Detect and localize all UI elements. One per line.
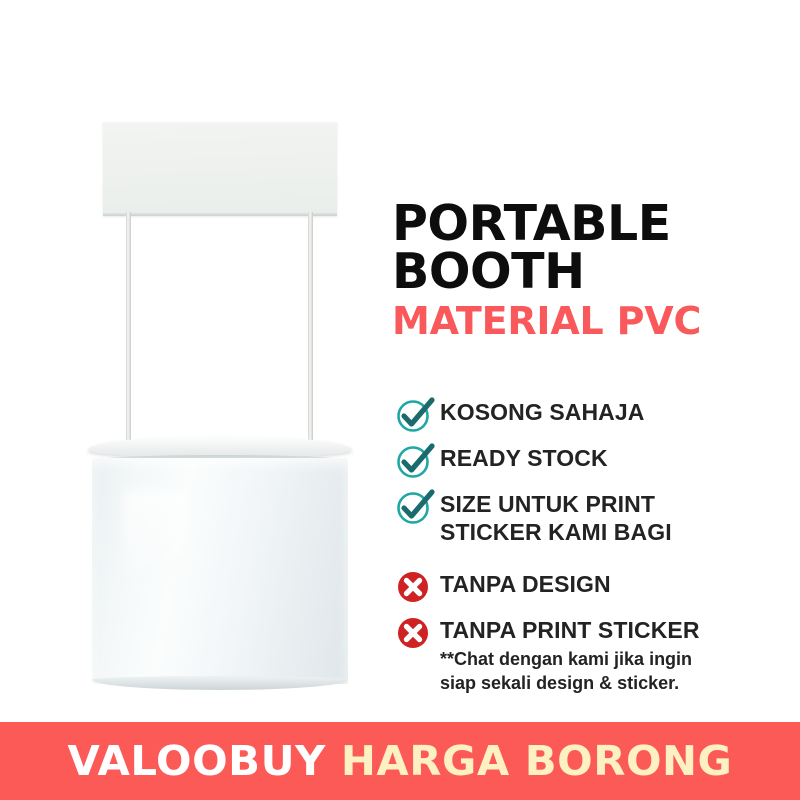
feature-label: SIZE UNTUK PRINT STICKER KAMI BAGI [440, 488, 672, 546]
feature-label: TANPA DESIGN [440, 568, 611, 598]
bottom-banner: VALOOBUY HARGA BORONG [0, 722, 800, 800]
feature-list: KOSONG SAHAJA READY STOCK [394, 396, 794, 660]
booth-support-pole-left [126, 212, 131, 444]
headline-block: PORTABLE BOOTH MATERIAL PVC [392, 200, 792, 340]
feature-item-included: READY STOCK [394, 442, 794, 480]
banner-tagline: HARGA BORONG [341, 737, 732, 785]
check-circle-icon [394, 442, 440, 480]
feature-item-included: SIZE UNTUK PRINT STICKER KAMI BAGI [394, 488, 794, 546]
cross-circle-icon [394, 568, 440, 606]
feature-label: TANPA PRINT STICKER [440, 614, 700, 644]
product-photo [0, 0, 380, 722]
banner-text: VALOOBUY HARGA BORONG [68, 737, 733, 785]
headline-subtitle: MATERIAL PVC [392, 302, 792, 340]
cross-circle-icon [394, 614, 440, 652]
headline-line-2: BOOTH [392, 248, 792, 296]
feature-item-included: KOSONG SAHAJA [394, 396, 794, 434]
headline-line-1: PORTABLE [392, 200, 792, 248]
booth-header-panel [103, 122, 337, 216]
booth-counter-body [92, 458, 348, 684]
feature-label: KOSONG SAHAJA [440, 396, 645, 426]
booth-support-pole-right [308, 212, 313, 444]
content-column: PORTABLE BOOTH MATERIAL PVC KOSONG SAHAJ… [380, 0, 800, 722]
check-circle-icon [394, 396, 440, 434]
portable-booth-illustration [0, 0, 380, 722]
promo-page: PORTABLE BOOTH MATERIAL PVC KOSONG SAHAJ… [0, 0, 800, 800]
feature-item-excluded: TANPA DESIGN [394, 568, 794, 606]
check-circle-icon [394, 488, 440, 526]
feature-item-excluded: TANPA PRINT STICKER [394, 614, 794, 652]
banner-brand: VALOOBUY [68, 737, 326, 785]
feature-label: READY STOCK [440, 442, 608, 472]
booth-counter-base [92, 676, 348, 690]
footnote-text: **Chat dengan kami jika ingin siap sekal… [440, 648, 790, 696]
